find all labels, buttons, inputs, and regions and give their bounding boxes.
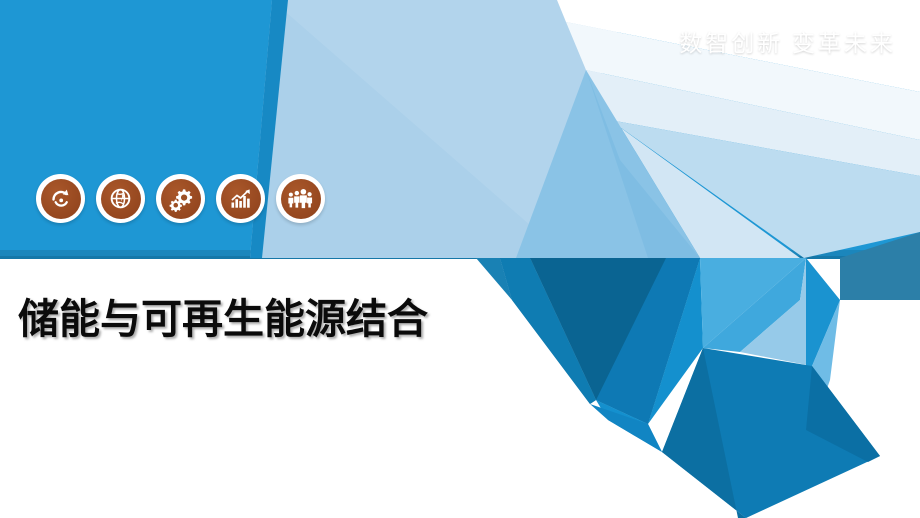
background-polygon-artwork bbox=[0, 0, 920, 518]
icon-badge-recycle-energy[interactable] bbox=[36, 174, 85, 223]
icon-disc bbox=[161, 179, 201, 219]
icon-disc bbox=[101, 179, 141, 219]
page-title: 储能与可再生能源结合 bbox=[18, 296, 428, 343]
icon-badge-gears[interactable] bbox=[156, 174, 205, 223]
icon-disc bbox=[281, 179, 321, 219]
icon-badge-team-people[interactable] bbox=[276, 174, 325, 223]
bar-chart-growth-icon bbox=[228, 186, 254, 212]
recycle-energy-icon bbox=[48, 186, 74, 212]
icon-strip bbox=[36, 174, 325, 223]
gears-icon bbox=[168, 186, 194, 212]
slide-tagline: 数智创新 变革未来 bbox=[679, 24, 896, 58]
icon-badge-bar-chart-growth[interactable] bbox=[216, 174, 265, 223]
globe-icon bbox=[108, 186, 133, 211]
icon-disc bbox=[221, 179, 261, 219]
poly-lower-steel-right bbox=[840, 258, 920, 300]
icon-badge-globe[interactable] bbox=[96, 174, 145, 223]
presentation-slide: 数智创新 变革未来 bbox=[0, 0, 920, 518]
team-people-icon bbox=[287, 185, 314, 212]
icon-disc bbox=[41, 179, 81, 219]
